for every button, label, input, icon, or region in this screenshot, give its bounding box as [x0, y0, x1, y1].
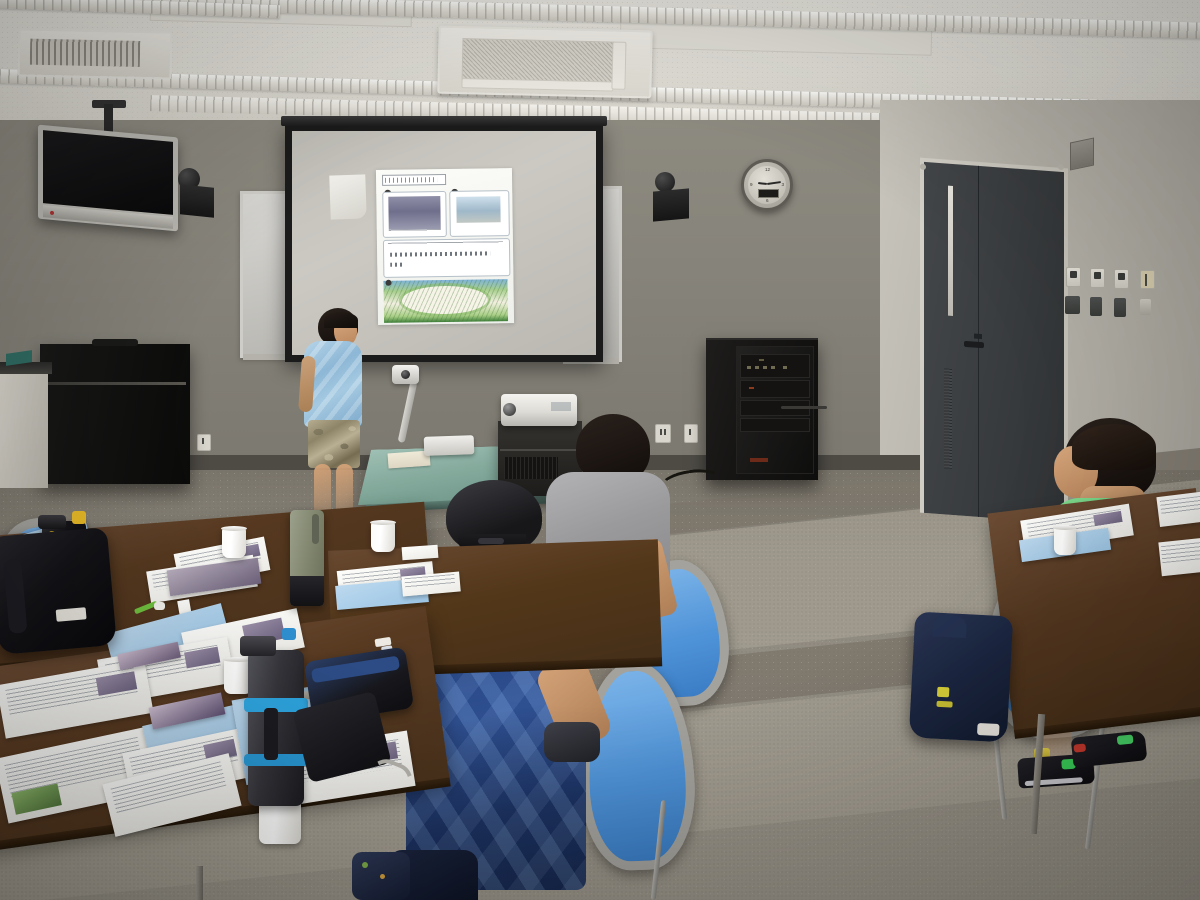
tv-power-led-icon	[50, 211, 54, 215]
clock-date-window	[758, 189, 779, 198]
paper-cup-1[interactable]	[222, 528, 246, 558]
av-equipment-rack[interactable]	[706, 338, 818, 480]
clock-hour-hand	[758, 182, 767, 185]
door-pivot-top	[920, 164, 926, 170]
backpack-tag	[56, 607, 87, 622]
projected-worksheet	[376, 168, 514, 325]
worksheet-handwriting-line-1	[390, 251, 490, 256]
rack-unit-amplifier[interactable]	[740, 354, 810, 378]
bag-pattern-dot	[380, 874, 385, 879]
wall-outlet-3[interactable]	[197, 434, 211, 451]
worksheet-bullet-4-icon	[385, 280, 391, 286]
document-camera-icon[interactable]	[392, 365, 419, 384]
clock-minute-hand	[767, 181, 781, 185]
door-vision-slit	[948, 186, 953, 316]
av-control-plate-4[interactable]	[1140, 299, 1151, 315]
ceiling-air-conditioner-left	[18, 28, 173, 79]
student-green-shoe-right	[1071, 730, 1148, 768]
cup-rim	[1053, 525, 1077, 530]
document-camera-base[interactable]	[424, 435, 475, 456]
bottle-clip-yellow	[72, 511, 86, 524]
camera-lens-icon	[401, 370, 410, 379]
wall-speaker-right	[653, 188, 689, 221]
av-control-plate-3[interactable]	[1114, 298, 1126, 317]
projector-label	[551, 402, 571, 411]
bag-floor-front-2	[352, 852, 410, 900]
rack-unit-player[interactable]	[740, 400, 810, 416]
rack-unit-deck[interactable]	[740, 418, 810, 432]
screen-roller-housing	[281, 116, 607, 126]
switch-panel-group[interactable]	[1066, 265, 1168, 327]
presenter-fringe	[324, 312, 358, 328]
worksheet-handwriting-line-2	[390, 263, 404, 267]
cabinet-drawer-seam	[44, 382, 186, 385]
wall-speaker-left	[180, 184, 214, 218]
student-cap-shorts	[544, 722, 600, 762]
worksheet-prompt-line	[388, 241, 503, 247]
worksheet-photo-box-1	[382, 191, 447, 238]
shoe-accent-icon-2	[1073, 743, 1086, 752]
bottle-base-sleeve	[290, 576, 324, 606]
wall-clock-icon: 12 3 6 9	[741, 159, 793, 211]
cap-strap	[478, 538, 504, 544]
door-vent-grille	[944, 368, 952, 469]
worksheet-crayon-drawing	[383, 279, 508, 323]
bottle-holder-front	[264, 708, 278, 760]
light-switch-icon-2[interactable]	[1090, 268, 1105, 288]
door-lock[interactable]	[974, 334, 982, 340]
name-card-2	[402, 545, 439, 560]
door-handle[interactable]	[964, 341, 984, 348]
clock-numeral: 9	[750, 182, 753, 187]
ac-grille-left	[30, 39, 141, 67]
worksheet-12[interactable]	[1156, 491, 1200, 527]
cabinet-handle[interactable]	[92, 339, 138, 346]
storage-cabinet[interactable]	[40, 344, 190, 484]
handwritten-title	[385, 177, 437, 183]
light-switch-icon-1[interactable]	[1066, 267, 1081, 287]
projected-page-corner	[329, 174, 367, 219]
clock-numeral: 6	[766, 198, 769, 203]
ceiling-air-conditioner	[437, 26, 652, 99]
worksheet-photo-1	[388, 196, 440, 230]
backpack-label	[977, 723, 1000, 736]
eraser[interactable]	[154, 602, 165, 610]
clock-numeral: 12	[765, 167, 770, 172]
tv-screen	[43, 130, 173, 215]
worksheet-13[interactable]	[1158, 538, 1200, 577]
wall-tv[interactable]	[38, 125, 178, 232]
drawing-crayon-strokes	[383, 279, 508, 323]
wall-outlet-2[interactable]	[684, 424, 698, 443]
student-green-hair-top	[1072, 424, 1156, 470]
clock-face: 12 3 6 9	[748, 166, 786, 204]
bag-pattern-dot	[362, 862, 368, 868]
backpack-strap	[3, 559, 27, 634]
shoe-accent-icon	[1117, 734, 1134, 745]
rack-unit-tuner[interactable]	[740, 380, 810, 398]
worksheet-title-field	[382, 174, 446, 186]
worksheet-photo-box-2	[449, 190, 510, 237]
paper-cup-5[interactable]	[1054, 527, 1076, 555]
backpack-navy[interactable]	[909, 612, 1013, 743]
classroom-scene: 12 3 6 9	[0, 0, 1200, 900]
cup-rim	[370, 520, 396, 525]
door-pivot-top-right	[1058, 164, 1064, 170]
bottle-strap	[312, 514, 319, 544]
backpack-top-handle	[932, 614, 967, 638]
pencil-case-trim	[311, 656, 400, 684]
side-counter	[0, 368, 48, 488]
ac-grille	[462, 38, 615, 83]
table-front-leg	[196, 866, 203, 900]
worksheet-text	[1159, 495, 1200, 515]
presenter-camo-pattern	[308, 420, 360, 468]
backpack-logo-icon	[937, 687, 950, 698]
olive-water-bottle[interactable]	[290, 510, 324, 606]
clock-numeral: 3	[781, 182, 784, 187]
bottle-cap-3[interactable]	[240, 636, 276, 656]
worksheet-text	[1161, 542, 1200, 563]
ac-vane-side	[611, 42, 626, 90]
paper-cup-2[interactable]	[371, 522, 395, 552]
backpack-logo-text-icon	[936, 701, 952, 708]
power-outlet-icon[interactable]	[1140, 270, 1155, 289]
projector-lens	[503, 403, 516, 416]
av-control-plate-2[interactable]	[1090, 297, 1102, 316]
worksheet-text	[404, 574, 455, 588]
cup-rim	[221, 526, 247, 531]
worksheet-writing-box	[383, 238, 511, 278]
worksheet-photo-2	[456, 196, 500, 223]
ceiling-speaker-corner	[1070, 137, 1094, 170]
light-switch-icon-3[interactable]	[1114, 269, 1129, 289]
av-control-plate-1[interactable]	[1065, 296, 1080, 314]
bottle-cap-clip	[282, 628, 296, 640]
rack-power-led-icon	[750, 458, 768, 462]
backpack-black[interactable]	[0, 527, 117, 655]
bottle-cap-1[interactable]	[38, 515, 66, 529]
worksheet-caption-1	[389, 229, 441, 234]
ac-vane	[461, 78, 613, 91]
